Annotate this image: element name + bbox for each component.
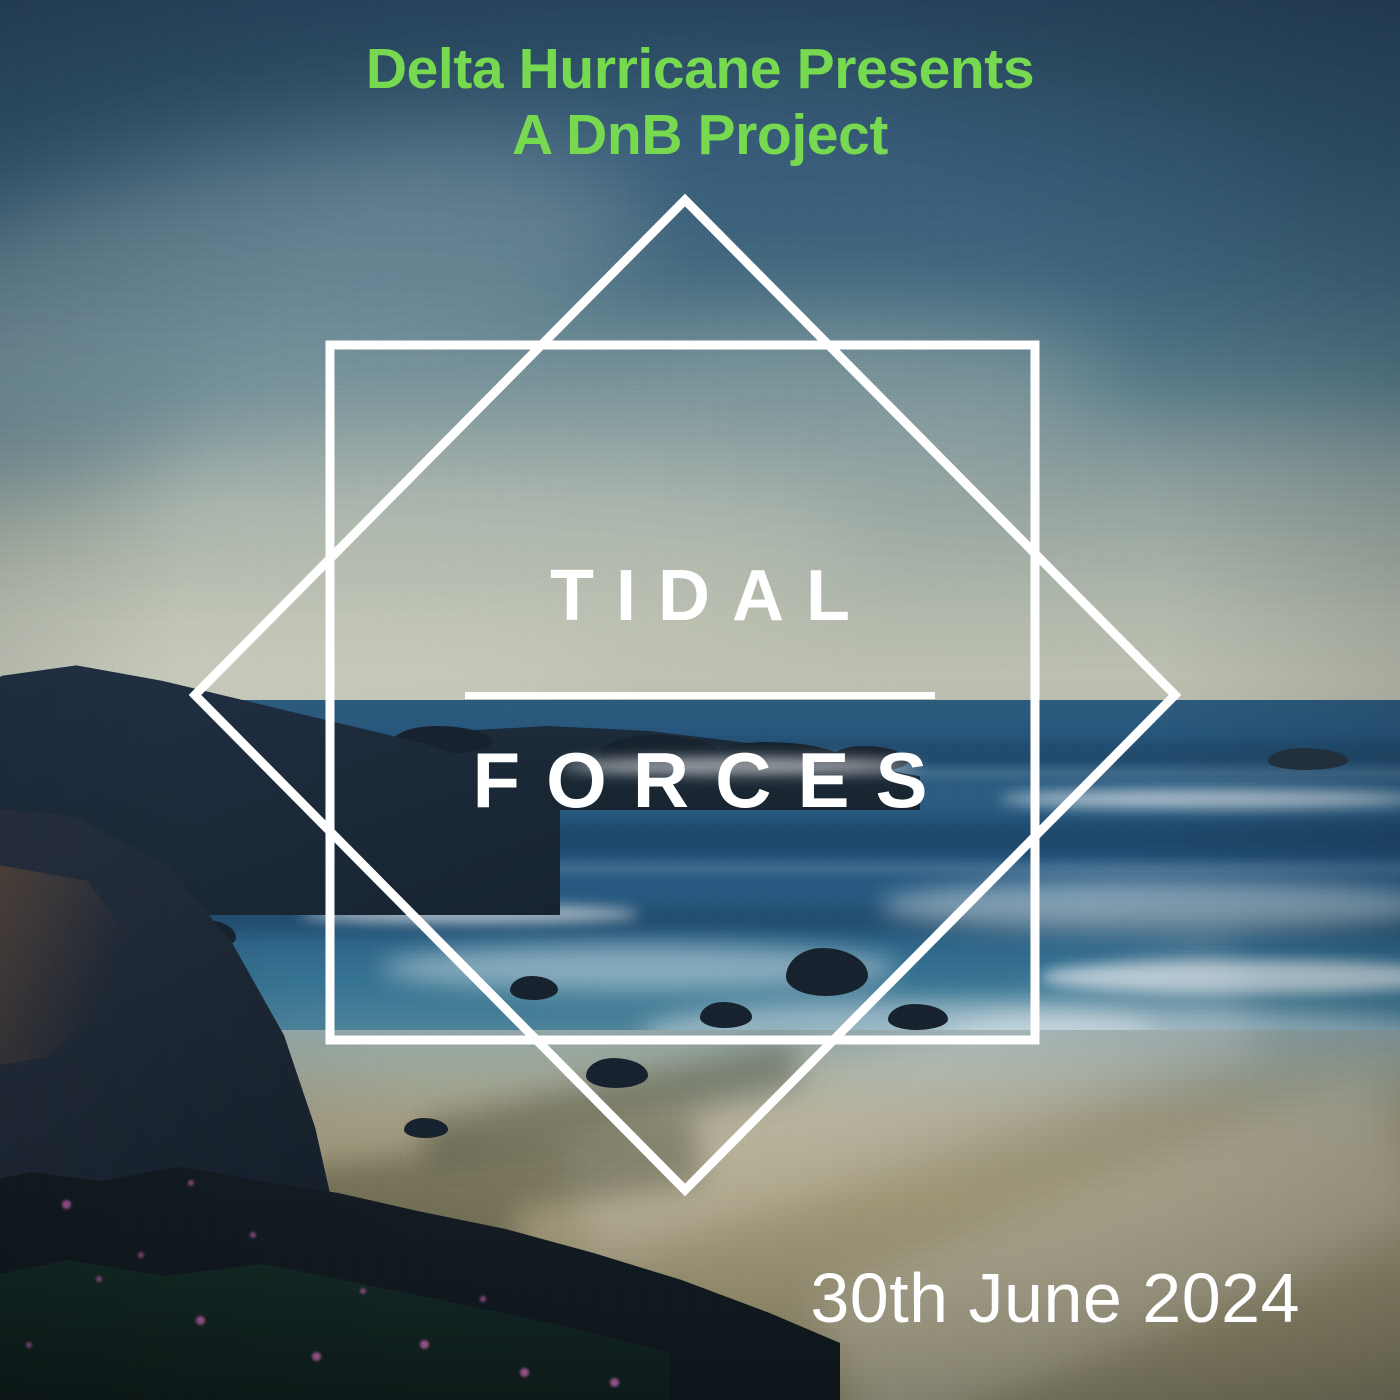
poster-canvas: Delta Hurricane Presents A DnB Project T… — [0, 0, 1400, 1400]
title-word-forces: FORCES — [350, 741, 1050, 819]
title-divider-rule — [465, 692, 935, 699]
title-word-tidal: TIDAL — [350, 560, 1050, 632]
header-line-2: A DnB Project — [0, 102, 1400, 168]
header-line-1: Delta Hurricane Presents — [0, 36, 1400, 102]
event-date: 30th June 2024 — [810, 1258, 1300, 1338]
title-lockup: TIDAL FORCES — [350, 560, 1050, 819]
header-presents-text: Delta Hurricane Presents A DnB Project — [0, 36, 1400, 168]
